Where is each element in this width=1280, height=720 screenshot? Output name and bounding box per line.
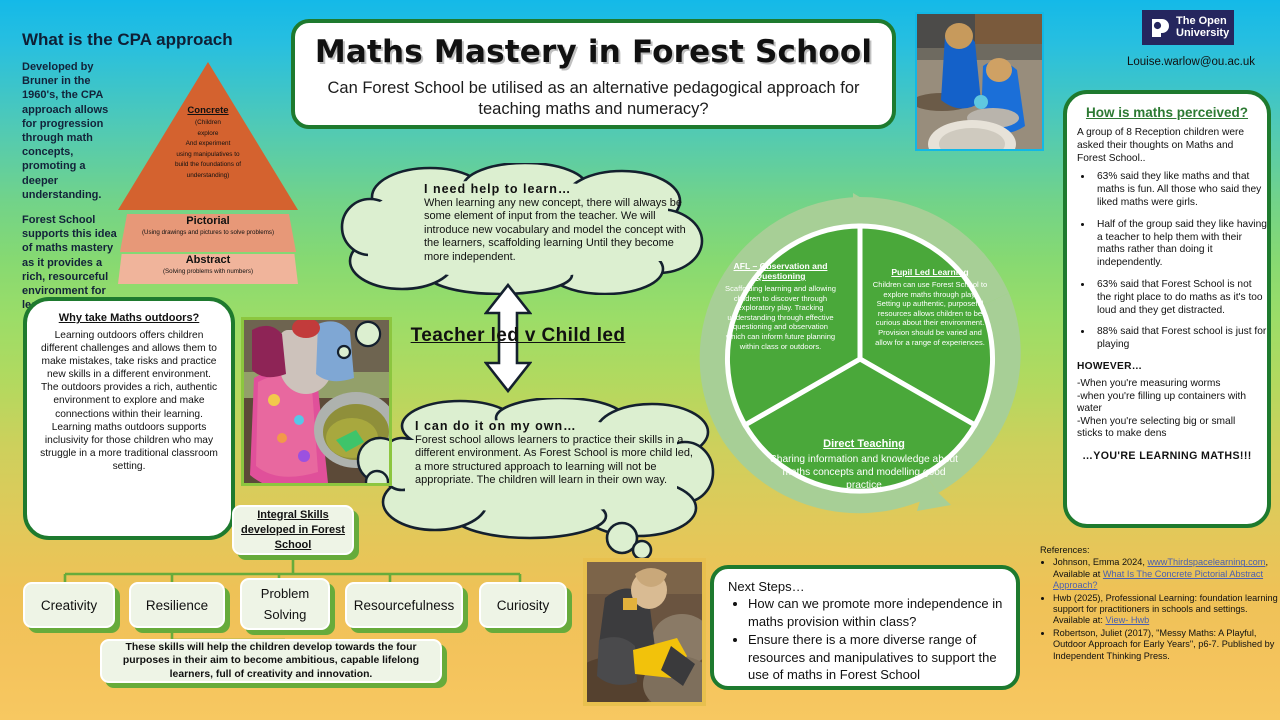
perceived-intro: A group of 8 Reception children were ask… bbox=[1077, 127, 1257, 165]
integral-skills-root-box: Integral Skills developed in Forest Scho… bbox=[232, 505, 354, 555]
ref2-link-1[interactable]: View- Hwb bbox=[1105, 615, 1149, 625]
bubble-bottom-body: Forest school allows learners to practic… bbox=[415, 434, 700, 488]
pedagogy-cycle-diagram: AFL – Observation and Questioning Scaffo… bbox=[693, 193, 1028, 523]
cpa-pyramid-diagram: Concrete (Children explore And experimen… bbox=[118, 62, 298, 277]
skill-box-curiosity: Curiosity bbox=[479, 582, 567, 628]
list-item: How can we promote more independence in … bbox=[748, 595, 1016, 630]
bubble-bottom-text: I can do it on my own… Forest school all… bbox=[415, 419, 700, 488]
cpa-heading: What is the CPA approach bbox=[22, 30, 262, 50]
cycle-afl-body: Scaffolding learning and allowing childr… bbox=[723, 284, 838, 351]
pyramid-pictorial-sub: (Using drawings and pictures to solve pr… bbox=[118, 229, 298, 237]
four-purposes-box: These skills will help the children deve… bbox=[100, 639, 442, 683]
list-item: 63% said that Forest School is not the r… bbox=[1093, 279, 1267, 317]
next-steps-list: How can we promote more independence in … bbox=[714, 595, 1016, 684]
cycle-segment-pupil-led: Pupil Led Learning Children can use Fore… bbox=[871, 267, 989, 347]
reference-item-1: Johnson, Emma 2024, wwwThirdspacelearnin… bbox=[1053, 557, 1278, 591]
ref3-text: Robertson, Juliet (2017), "Messy Maths: … bbox=[1053, 628, 1274, 661]
list-item: 63% said they like maths and that maths … bbox=[1093, 171, 1267, 209]
why-outdoors-panel: Why take Maths outdoors? Learning outdoo… bbox=[23, 297, 235, 540]
references-title: References: bbox=[1040, 545, 1278, 556]
page-subtitle: Can Forest School be utilised as an alte… bbox=[295, 78, 892, 120]
bubble-top-text: I need help to learn… When learning any … bbox=[424, 182, 696, 264]
bubble-bottom-heading: I can do it on my own… bbox=[415, 419, 700, 433]
pyramid-abstract-title: Abstract bbox=[118, 254, 298, 266]
poster-title-card: Maths Mastery in Forest School Can Fores… bbox=[291, 19, 896, 129]
list-item: Ensure there is a more diverse range of … bbox=[748, 631, 1016, 684]
perceived-examples: -When you're measuring worms -when you'r… bbox=[1077, 378, 1257, 441]
skill-box-problem-solving: Problem Solving bbox=[240, 578, 330, 630]
cycle-direct-title: Direct Teaching bbox=[769, 438, 959, 450]
list-item: 88% said that Forest school is just for … bbox=[1093, 326, 1267, 352]
ou-wordmark-line2: University bbox=[1176, 27, 1229, 39]
skill-box-resourcefulness: Resourcefulness bbox=[345, 582, 463, 628]
open-university-logo: The Open University bbox=[1142, 10, 1234, 45]
cycle-pupil-title: Pupil Led Learning bbox=[871, 267, 989, 277]
ou-mark-icon bbox=[1149, 17, 1171, 39]
teacher-v-child-heading: Teacher led v Child led bbox=[393, 325, 643, 347]
cpa-paragraph-1: Developed by Bruner in the 1960's, the C… bbox=[22, 60, 120, 202]
perceived-closing-line: …YOU'RE LEARNING MATHS!!! bbox=[1077, 450, 1257, 462]
pyramid-abstract-sub: (Solving problems with numbers) bbox=[118, 268, 298, 275]
perceived-bullets: 63% said they like maths and that maths … bbox=[1067, 171, 1267, 352]
bubble-top-heading: I need help to learn… bbox=[424, 182, 696, 196]
outdoors-heading: Why take Maths outdoors? bbox=[39, 312, 219, 324]
pyramid-concrete-sub: (Children explore And experiment using m… bbox=[118, 118, 298, 181]
photo-child-mixing-bowl bbox=[241, 317, 392, 486]
ou-wordmark: The Open University bbox=[1176, 16, 1229, 39]
list-item: Half of the group said they like having … bbox=[1093, 219, 1267, 270]
thought-bubble-teacher-led: I need help to learn… When learning any … bbox=[340, 163, 710, 295]
cycle-direct-body: Sharing information and knowledge about … bbox=[769, 453, 959, 492]
contact-email[interactable]: Louise.warlow@ou.ac.uk bbox=[1096, 56, 1280, 68]
pyramid-concrete-title: Concrete bbox=[118, 105, 298, 116]
skill-box-resilience: Resilience bbox=[129, 582, 225, 628]
cycle-pupil-body: Children can use Forest School to explor… bbox=[871, 280, 989, 347]
references-list: Johnson, Emma 2024, wwwThirdspacelearnin… bbox=[1040, 557, 1278, 662]
cycle-afl-title: AFL – Observation and Questioning bbox=[723, 261, 838, 281]
outdoors-body: Learning outdoors offers children differ… bbox=[35, 329, 223, 473]
page-title: Maths Mastery in Forest School bbox=[295, 34, 892, 70]
pyramid-pictorial-title: Pictorial bbox=[118, 215, 298, 227]
cycle-segment-direct-teaching: Direct Teaching Sharing information and … bbox=[769, 438, 959, 492]
next-steps-title: Next Steps… bbox=[728, 579, 1016, 594]
cpa-description: Developed by Bruner in the 1960's, the C… bbox=[22, 60, 120, 323]
perceived-heading: How is maths perceived? bbox=[1081, 104, 1253, 121]
ref1-prefix: Johnson, Emma 2024, bbox=[1053, 557, 1147, 567]
next-steps-panel: Next Steps… How can we promote more inde… bbox=[710, 565, 1020, 690]
skill-box-creativity: Creativity bbox=[23, 582, 115, 628]
thought-bubble-child-led: I can do it on my own… Forest school all… bbox=[380, 398, 715, 540]
photo-children-water-tray bbox=[915, 12, 1044, 151]
maths-perception-panel: How is maths perceived? A group of 8 Rec… bbox=[1063, 90, 1271, 528]
reference-item-3: Robertson, Juliet (2017), "Messy Maths: … bbox=[1053, 628, 1278, 662]
ou-wordmark-line1: The Open bbox=[1176, 15, 1227, 27]
perceived-however: HOWEVER… bbox=[1077, 361, 1257, 372]
ref1-link-1[interactable]: wwwThirdspacelearning.com bbox=[1147, 557, 1265, 567]
poster-canvas: What is the CPA approach Developed by Br… bbox=[0, 0, 1280, 720]
ref2-prefix: Hwb (2025), Professional Learning: found… bbox=[1053, 593, 1278, 626]
cycle-segment-afl: AFL – Observation and Questioning Scaffo… bbox=[723, 261, 838, 351]
reference-item-2: Hwb (2025), Professional Learning: found… bbox=[1053, 593, 1278, 627]
bubble-top-body: When learning any new concept, there wil… bbox=[424, 197, 696, 264]
references-block: References: Johnson, Emma 2024, wwwThird… bbox=[1040, 545, 1278, 663]
photo-child-digger-toy bbox=[583, 558, 706, 706]
